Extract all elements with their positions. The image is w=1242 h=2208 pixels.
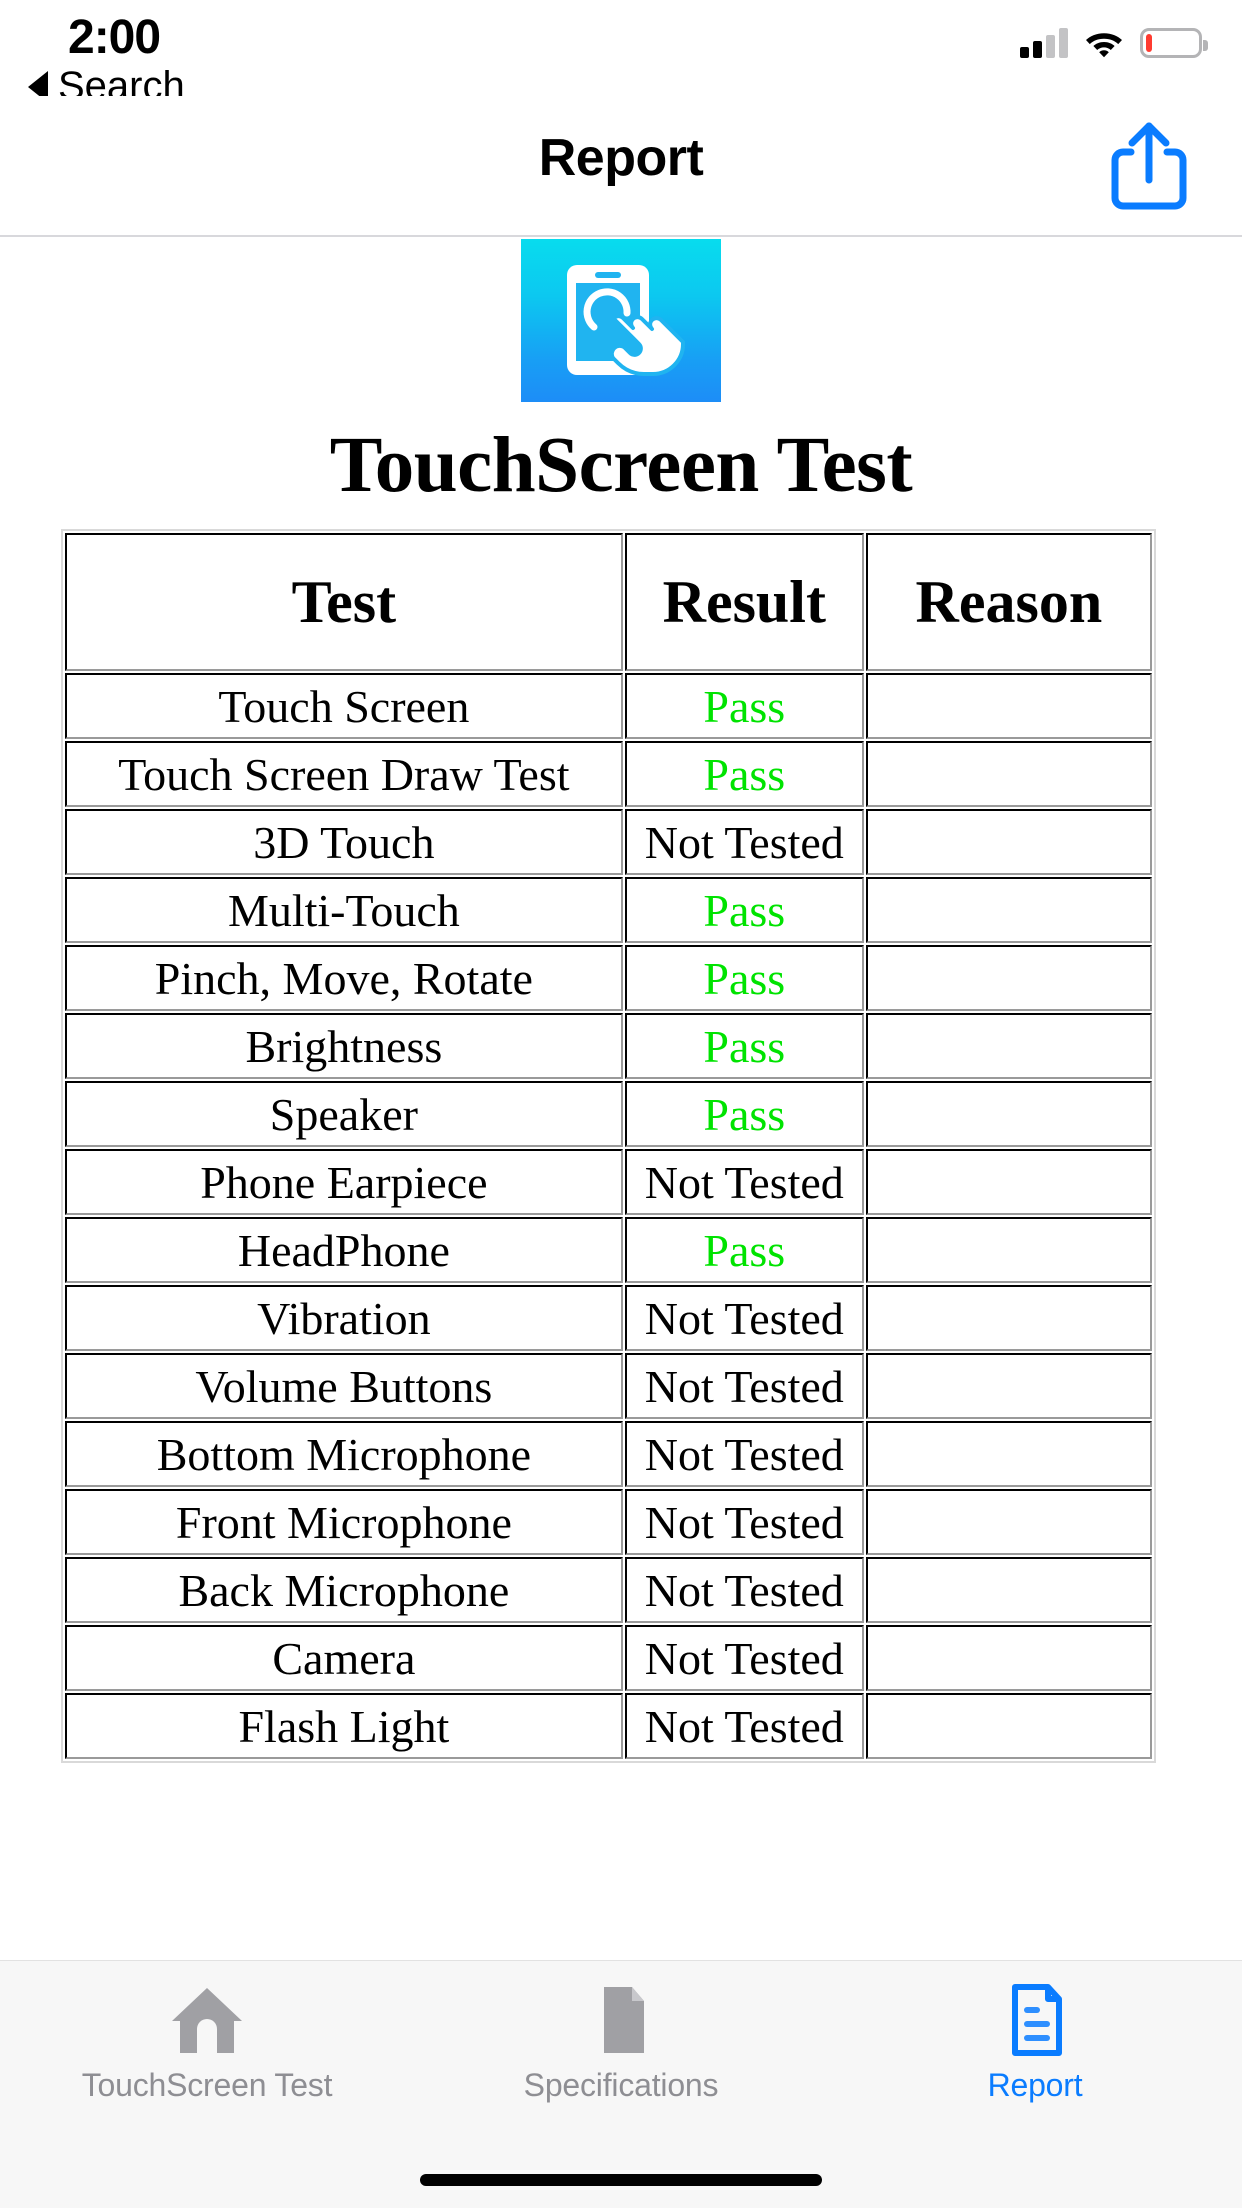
table-row: Back MicrophoneNot Tested: [65, 1557, 1152, 1623]
cell-result: Not Tested: [625, 1625, 864, 1691]
table-row: 3D TouchNot Tested: [65, 809, 1152, 875]
cell-reason: [866, 1285, 1152, 1351]
cell-reason: [866, 1081, 1152, 1147]
cell-result: Pass: [625, 877, 864, 943]
table-row: HeadPhonePass: [65, 1217, 1152, 1283]
cell-result: Not Tested: [625, 1489, 864, 1555]
status-badge: Pass: [703, 1225, 785, 1276]
cell-reason: [866, 877, 1152, 943]
status-badge: Not Tested: [645, 1429, 844, 1480]
cell-test: Multi-Touch: [65, 877, 623, 943]
status-badge: Not Tested: [645, 1293, 844, 1344]
table-header-row: Test Result Reason: [65, 533, 1152, 671]
cell-test: Volume Buttons: [65, 1353, 623, 1419]
cellular-signal-icon: [1020, 28, 1068, 58]
tab-report[interactable]: Report: [828, 1961, 1242, 2121]
tab-touchscreen-test[interactable]: TouchScreen Test: [0, 1961, 414, 2121]
table-row: Flash LightNot Tested: [65, 1693, 1152, 1759]
status-bar: 2:00 Search: [0, 0, 1242, 96]
cell-test: HeadPhone: [65, 1217, 623, 1283]
cell-test: Camera: [65, 1625, 623, 1691]
table-head: Test Result Reason: [65, 533, 1152, 671]
wifi-icon: [1084, 28, 1124, 58]
status-time: 2:00: [68, 10, 160, 65]
cell-reason: [866, 1353, 1152, 1419]
cell-result: Pass: [625, 741, 864, 807]
cell-reason: [866, 1693, 1152, 1759]
home-icon: [168, 1983, 246, 2057]
tab-label-specifications: Specifications: [524, 2067, 719, 2104]
cell-test: Back Microphone: [65, 1557, 623, 1623]
cell-test: Pinch, Move, Rotate: [65, 945, 623, 1011]
app-screen: 2:00 Search Report: [0, 0, 1242, 2208]
cell-reason: [866, 1013, 1152, 1079]
cell-reason: [866, 1217, 1152, 1283]
cell-result: Not Tested: [625, 1557, 864, 1623]
cell-test: Speaker: [65, 1081, 623, 1147]
status-indicators: [1020, 28, 1202, 58]
share-button[interactable]: [1104, 118, 1194, 214]
tab-bar: TouchScreen Test Specifications: [0, 1960, 1242, 2208]
cell-result: Pass: [625, 945, 864, 1011]
report-table: Test Result Reason Touch ScreenPassTouch…: [63, 531, 1154, 1761]
table-row: Multi-TouchPass: [65, 877, 1152, 943]
cell-result: Not Tested: [625, 1149, 864, 1215]
table-row: Phone EarpieceNot Tested: [65, 1149, 1152, 1215]
cell-test: Vibration: [65, 1285, 623, 1351]
column-header-reason: Reason: [866, 533, 1152, 671]
tab-label-report: Report: [988, 2067, 1083, 2104]
battery-low-icon: [1140, 28, 1202, 58]
cell-test: Touch Screen Draw Test: [65, 741, 623, 807]
table-row: CameraNot Tested: [65, 1625, 1152, 1691]
table-row: BrightnessPass: [65, 1013, 1152, 1079]
cell-result: Pass: [625, 1013, 864, 1079]
document-title: TouchScreen Test: [0, 421, 1242, 511]
cell-reason: [866, 809, 1152, 875]
cell-test: 3D Touch: [65, 809, 623, 875]
status-badge: Pass: [703, 953, 785, 1004]
cell-reason: [866, 1149, 1152, 1215]
column-header-result: Result: [625, 533, 864, 671]
cell-result: Not Tested: [625, 1693, 864, 1759]
home-indicator[interactable]: [420, 2174, 822, 2186]
cell-test: Phone Earpiece: [65, 1149, 623, 1215]
cell-result: Pass: [625, 673, 864, 739]
share-icon: [1104, 118, 1194, 214]
status-badge: Pass: [703, 749, 785, 800]
status-badge: Not Tested: [645, 1157, 844, 1208]
cell-test: Brightness: [65, 1013, 623, 1079]
tab-specifications[interactable]: Specifications: [414, 1961, 828, 2121]
report-table-container: Test Result Reason Touch ScreenPassTouch…: [61, 529, 1156, 1763]
status-badge: Pass: [703, 885, 785, 936]
status-badge: Not Tested: [645, 1565, 844, 1616]
cell-reason: [866, 1625, 1152, 1691]
status-badge: Not Tested: [645, 1701, 844, 1752]
cell-reason: [866, 1421, 1152, 1487]
document-list-icon: [996, 1983, 1074, 2057]
status-badge: Not Tested: [645, 817, 844, 868]
table-row: VibrationNot Tested: [65, 1285, 1152, 1351]
touchscreen-app-icon: [521, 239, 721, 402]
cell-result: Pass: [625, 1081, 864, 1147]
status-badge: Not Tested: [645, 1633, 844, 1684]
table-row: Front MicrophoneNot Tested: [65, 1489, 1152, 1555]
document-icon: [582, 1983, 660, 2057]
cell-reason: [866, 945, 1152, 1011]
cell-reason: [866, 741, 1152, 807]
cell-result: Not Tested: [625, 809, 864, 875]
table-body: Touch ScreenPassTouch Screen Draw TestPa…: [65, 673, 1152, 1759]
cell-reason: [866, 673, 1152, 739]
table-row: SpeakerPass: [65, 1081, 1152, 1147]
page-title: Report: [0, 128, 1242, 188]
status-badge: Pass: [703, 681, 785, 732]
cell-result: Pass: [625, 1217, 864, 1283]
status-badge: Not Tested: [645, 1361, 844, 1412]
table-row: Touch Screen Draw TestPass: [65, 741, 1152, 807]
tab-label-touchscreen-test: TouchScreen Test: [82, 2067, 333, 2104]
table-row: Touch ScreenPass: [65, 673, 1152, 739]
cell-result: Not Tested: [625, 1421, 864, 1487]
status-badge: Pass: [703, 1021, 785, 1072]
cell-result: Not Tested: [625, 1353, 864, 1419]
column-header-test: Test: [65, 533, 623, 671]
table-row: Bottom MicrophoneNot Tested: [65, 1421, 1152, 1487]
report-content[interactable]: TouchScreen Test Test Result Reason Touc…: [0, 239, 1242, 1960]
cell-test: Front Microphone: [65, 1489, 623, 1555]
cell-test: Flash Light: [65, 1693, 623, 1759]
cell-test: Bottom Microphone: [65, 1421, 623, 1487]
table-row: Pinch, Move, RotatePass: [65, 945, 1152, 1011]
table-row: Volume ButtonsNot Tested: [65, 1353, 1152, 1419]
cell-reason: [866, 1557, 1152, 1623]
status-badge: Pass: [703, 1089, 785, 1140]
navigation-bar: Report: [0, 96, 1242, 237]
status-badge: Not Tested: [645, 1497, 844, 1548]
cell-test: Touch Screen: [65, 673, 623, 739]
cell-result: Not Tested: [625, 1285, 864, 1351]
cell-reason: [866, 1489, 1152, 1555]
